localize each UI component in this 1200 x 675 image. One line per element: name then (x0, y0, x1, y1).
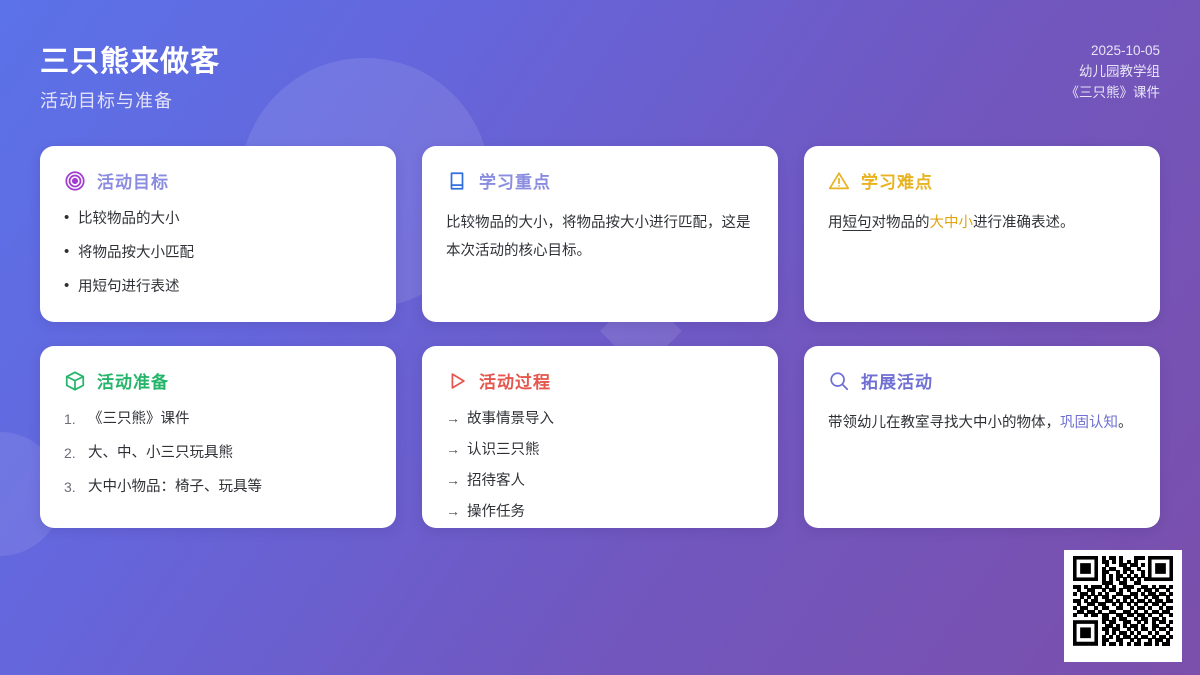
list-item: 大、中、小三只玩具熊 (64, 443, 372, 463)
list-item: 大中小物品：椅子、玩具等 (64, 477, 372, 497)
card-title: 活动目标 (97, 168, 169, 193)
qr-code (1073, 556, 1173, 656)
slide-header: 三只熊来做客 活动目标与准备 2025-10-05 幼儿园教学组 《三只熊》课件 (0, 0, 1200, 146)
card-activity-preparation: 活动准备《三只熊》课件大、中、小三只玩具熊大中小物品：椅子、玩具等 (40, 346, 396, 528)
card-title: 学习重点 (479, 168, 551, 193)
paragraph-segment: 比较物品的大小，将物品按大小进行匹配，这是本次活动的核心目标。 (446, 215, 751, 259)
card-learning-difficulty: 学习难点用短句对物品的大中小进行准确表述。 (804, 146, 1160, 322)
package-box-icon (64, 370, 86, 392)
list-item: 认识三只熊 (446, 440, 754, 460)
list-item: 《三只熊》课件 (64, 409, 372, 429)
page-title: 三只熊来做客 (40, 38, 220, 80)
list-item: 将物品按大小匹配 (64, 243, 372, 263)
list-item: 操作任务 (446, 502, 754, 522)
card-list: 《三只熊》课件大、中、小三只玩具熊大中小物品：椅子、玩具等 (64, 409, 372, 497)
card-learning-focus: 学习重点比较物品的大小，将物品按大小进行匹配，这是本次活动的核心目标。 (422, 146, 778, 322)
paragraph-segment: 进行准确表述。 (973, 215, 1075, 231)
paragraph-segment: 巩固认知 (1060, 415, 1118, 431)
card-header: 活动过程 (446, 368, 754, 393)
card-extension-activity: 拓展活动带领幼儿在教室寻找大中小的物体，巩固认知。 (804, 346, 1160, 528)
paragraph-segment: 短句 (843, 215, 872, 231)
page-subtitle: 活动目标与准备 (40, 87, 173, 113)
paragraph-segment: 。 (1118, 415, 1133, 431)
card-paragraph: 带领幼儿在教室寻找大中小的物体，巩固认知。 (828, 409, 1136, 437)
meta-org: 幼儿园教学组 (1066, 61, 1161, 82)
paragraph-segment: 对物品的 (872, 215, 930, 231)
card-activity-goals: 活动目标比较物品的大小将物品按大小匹配用短句进行表述 (40, 146, 396, 322)
meta-source: 《三只熊》课件 (1066, 82, 1161, 103)
card-header: 学习难点 (828, 168, 1136, 193)
card-list: 比较物品的大小将物品按大小匹配用短句进行表述 (64, 209, 372, 297)
warning-triangle-icon (828, 170, 850, 192)
card-title: 活动过程 (479, 368, 551, 393)
play-triangle-icon (446, 370, 468, 392)
card-paragraph: 用短句对物品的大中小进行准确表述。 (828, 209, 1136, 237)
card-activity-process: 活动过程故事情景导入认识三只熊招待客人操作任务 (422, 346, 778, 528)
card-header: 学习重点 (446, 168, 754, 193)
header-meta: 2025-10-05 幼儿园教学组 《三只熊》课件 (1066, 40, 1161, 103)
card-list: 故事情景导入认识三只熊招待客人操作任务 (446, 409, 754, 522)
list-item: 用短句进行表述 (64, 277, 372, 297)
list-item: 比较物品的大小 (64, 209, 372, 229)
list-item: 招待客人 (446, 471, 754, 491)
target-icon (64, 170, 86, 192)
list-item: 故事情景导入 (446, 409, 754, 429)
magnifier-icon (828, 370, 850, 392)
card-title: 学习难点 (861, 168, 933, 193)
card-title: 拓展活动 (861, 368, 933, 393)
card-paragraph: 比较物品的大小，将物品按大小进行匹配，这是本次活动的核心目标。 (446, 209, 754, 265)
slide-root: 三只熊来做客 活动目标与准备 2025-10-05 幼儿园教学组 《三只熊》课件… (0, 0, 1200, 675)
book-icon (446, 170, 468, 192)
card-grid: 活动目标比较物品的大小将物品按大小匹配用短句进行表述学习重点比较物品的大小，将物… (40, 146, 1160, 528)
paragraph-segment: 大中小 (930, 215, 974, 231)
card-header: 活动准备 (64, 368, 372, 393)
paragraph-segment: 带领幼儿在教室寻找大中小的物体， (828, 415, 1060, 431)
meta-date: 2025-10-05 (1066, 40, 1161, 61)
card-title: 活动准备 (97, 368, 169, 393)
paragraph-segment: 用 (828, 215, 843, 231)
card-header: 活动目标 (64, 168, 372, 193)
card-header: 拓展活动 (828, 368, 1136, 393)
qr-code-container[interactable] (1064, 550, 1182, 662)
